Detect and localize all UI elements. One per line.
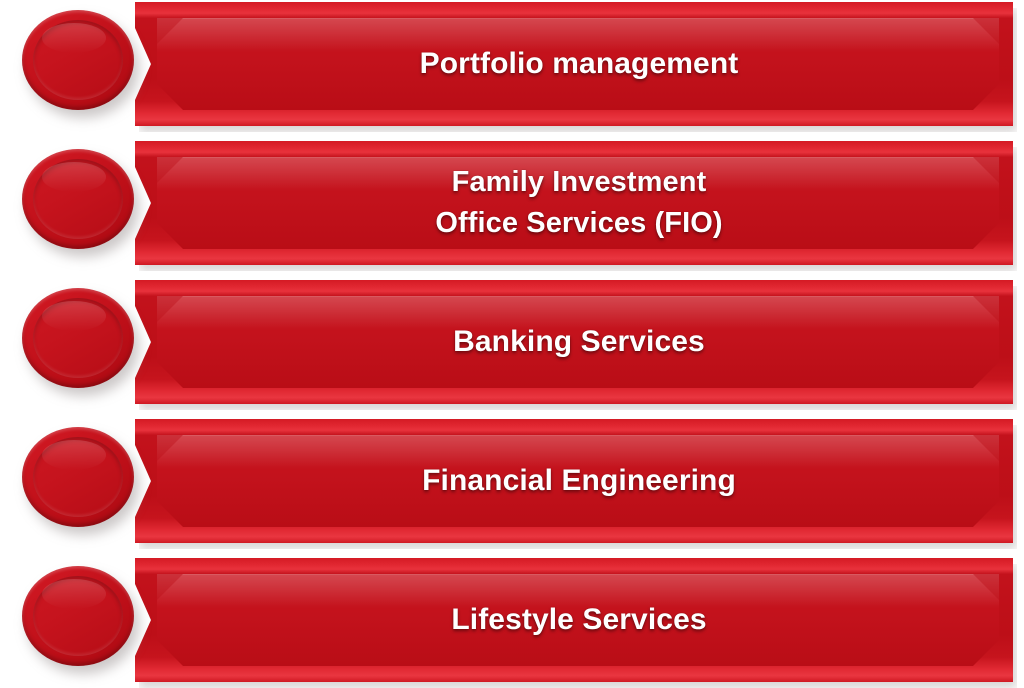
plate-inner-disc — [33, 576, 123, 656]
plate-inner-disc — [33, 20, 123, 100]
circle-plate-icon — [22, 566, 140, 674]
process-row[interactable]: Portfolio management — [0, 2, 1024, 126]
plate-inner-disc — [33, 298, 123, 378]
process-label: Banking Services — [175, 280, 983, 404]
circle-plate-icon — [22, 288, 140, 396]
process-bar[interactable]: Family Investment Office Services (FIO) — [135, 141, 1013, 265]
process-diagram: Portfolio management Family Investment O… — [0, 0, 1024, 683]
process-label: Portfolio management — [175, 2, 983, 126]
process-label: Family Investment Office Services (FIO) — [175, 141, 983, 265]
circle-plate-icon — [22, 427, 140, 535]
process-label: Lifestyle Services — [175, 558, 983, 682]
process-row[interactable]: Lifestyle Services — [0, 558, 1024, 682]
process-row[interactable]: Family Investment Office Services (FIO) — [0, 141, 1024, 265]
process-bar[interactable]: Banking Services — [135, 280, 1013, 404]
plate-inner-disc — [33, 159, 123, 239]
circle-plate-icon — [22, 10, 140, 118]
process-label: Financial Engineering — [175, 419, 983, 543]
process-bar[interactable]: Financial Engineering — [135, 419, 1013, 543]
process-bar[interactable]: Portfolio management — [135, 2, 1013, 126]
process-row[interactable]: Banking Services — [0, 280, 1024, 404]
process-bar[interactable]: Lifestyle Services — [135, 558, 1013, 682]
circle-plate-icon — [22, 149, 140, 257]
plate-inner-disc — [33, 437, 123, 517]
process-row[interactable]: Financial Engineering — [0, 419, 1024, 543]
